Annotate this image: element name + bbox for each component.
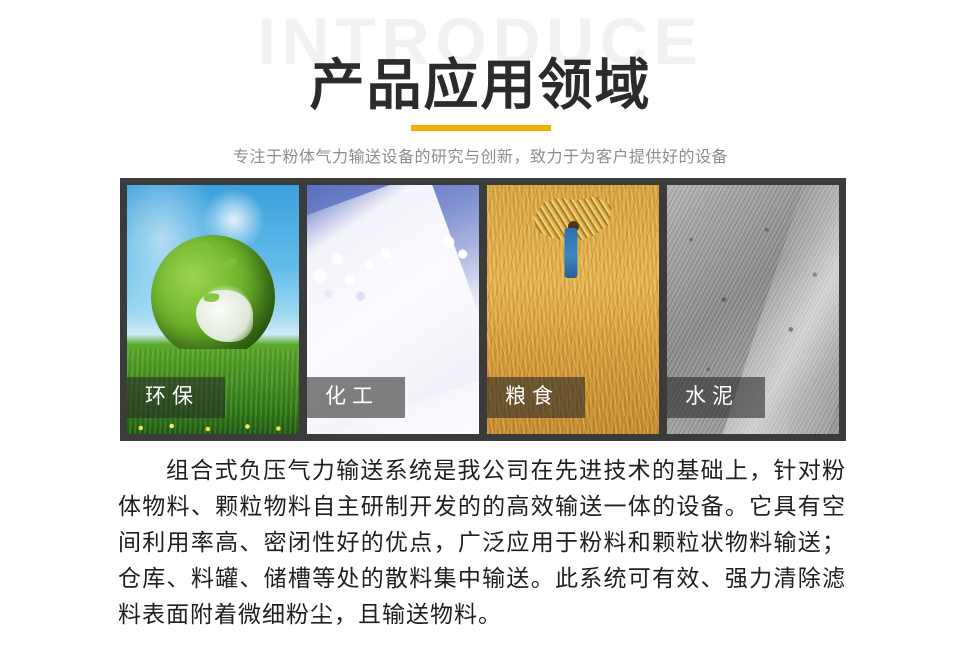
gallery-panel-cement[interactable]: 水泥 — [667, 185, 839, 434]
gallery-panel-label: 环保 — [127, 377, 225, 418]
powder-granules — [307, 240, 414, 315]
application-gallery: 环保 化工 粮食 水泥 — [120, 178, 846, 441]
gallery-panel-label: 粮食 — [487, 377, 585, 418]
powder-granules — [414, 220, 472, 275]
gallery-panel-chemical[interactable]: 化工 — [307, 185, 479, 434]
description-paragraph: 组合式负压气力输送系统是我公司在先进技术的基础上，针对粉体物料、颗粒物料自主研制… — [118, 452, 846, 632]
gallery-panel-grain[interactable]: 粮食 — [487, 185, 659, 434]
farmer-figure — [565, 228, 578, 278]
gallery-panel-eco[interactable]: 环保 — [127, 185, 299, 434]
title-underline-bar — [411, 125, 551, 131]
gallery-panel-label: 水泥 — [667, 377, 765, 418]
gallery-panel-label: 化工 — [307, 377, 405, 418]
page-title: 产品应用领域 — [0, 57, 961, 115]
page-subtitle: 专注于粉体气力输送设备的研究与创新，致力于为客户提供好的设备 — [0, 143, 961, 167]
grass-flowers — [127, 422, 299, 432]
page-header: INTRODUCE 产品应用领域 专注于粉体气力输送设备的研究与创新，致力于为客… — [0, 0, 961, 175]
